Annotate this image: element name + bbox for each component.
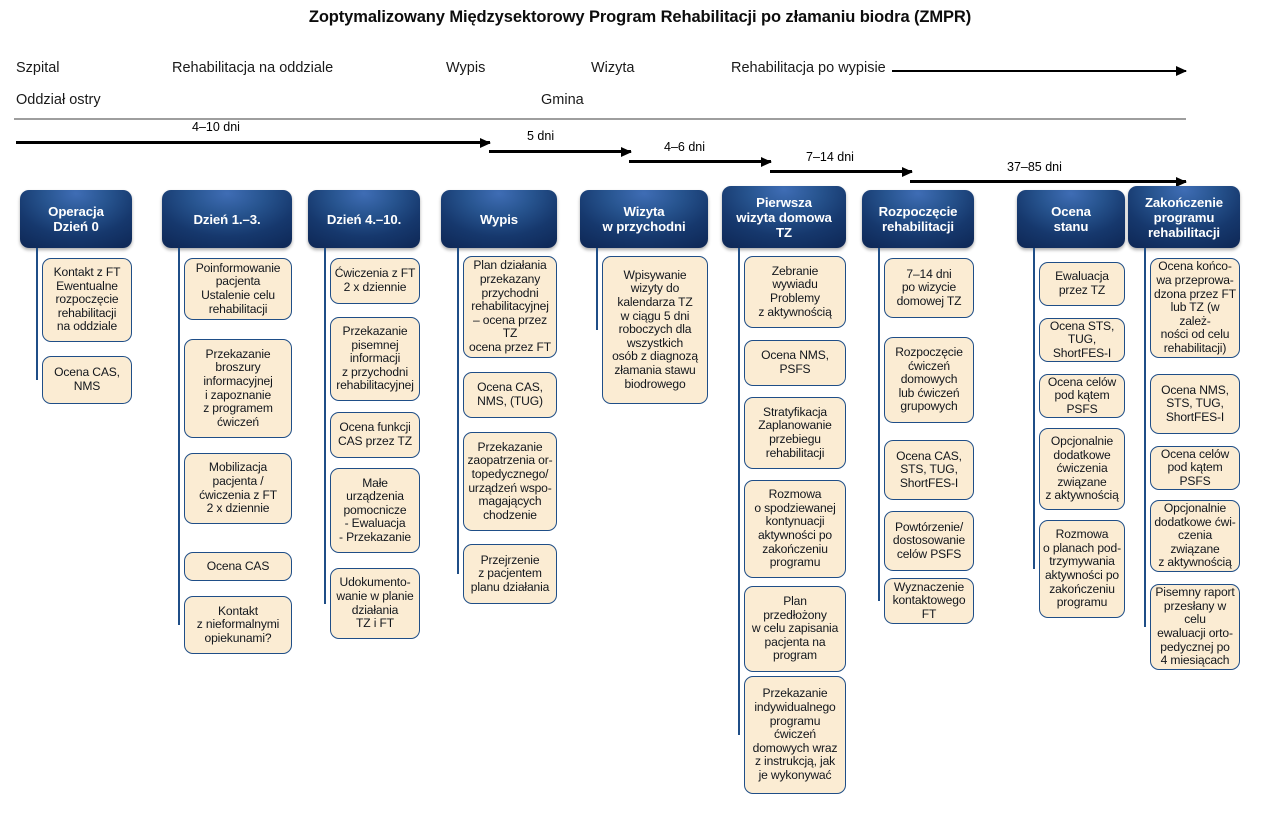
setting-label: Oddział ostry (16, 92, 101, 108)
task-card-line: kalendarza TZ (609, 296, 701, 310)
stage-header-line: Dzień 1.–3. (189, 212, 264, 227)
stage-header-line: stanu (1047, 219, 1095, 234)
task-card-line: pisemnej (333, 339, 417, 353)
task-card-line: Ocena celów (1151, 448, 1239, 462)
stage-header-line: rehabilitacji (1141, 225, 1227, 240)
task-card-line: wa przeprowa- (1151, 274, 1239, 288)
task-card-line: z pacjentem (468, 567, 552, 581)
task-card-line: ności od celu (1151, 328, 1239, 342)
task-card-line: celów PSFS (890, 548, 968, 562)
task-card-line: ćwiczenia (1042, 462, 1121, 476)
task-card-line: z aktywnością (755, 306, 834, 320)
duration-label: 4–10 dni (192, 120, 240, 134)
task-card-line: indywidualnego (750, 701, 841, 715)
task-card-line: NMS (51, 380, 123, 394)
stage-header-line: Dzień 0 (44, 219, 108, 234)
task-card[interactable]: Przejrzeniez pacjentemplanu działania (463, 544, 557, 604)
task-card-line: Ocena NMS, (758, 349, 832, 363)
connector-spine (1144, 248, 1146, 627)
task-card-line: z nieformalnymi (194, 618, 282, 632)
task-card[interactable]: Pisemny raportprzesłany w celuewaluacji … (1150, 584, 1240, 670)
connector-spine (324, 248, 326, 604)
stage-header-line: w przychodni (598, 219, 689, 234)
task-card[interactable]: Wpisywaniewizyty dokalendarza TZw ciągu … (602, 256, 708, 404)
task-card-line: lub ćwiczeń (892, 387, 966, 401)
task-card-line: TZ i FT (333, 617, 416, 631)
task-card-line: Ocena końco- (1151, 260, 1239, 274)
task-card[interactable]: Kontaktz nieformalnymiopiekunami? (184, 596, 292, 654)
stage-header-line: wizyta domowa (732, 210, 835, 225)
task-card-line: przekazany (464, 273, 556, 287)
task-card-line: STS, TUG, (1158, 397, 1232, 411)
task-card-line: zakończeniu (1040, 583, 1124, 597)
task-card-line: biodrowego (609, 378, 701, 392)
task-card-line: pacjenta na (749, 636, 841, 650)
task-card-line: 7–14 dni (894, 268, 965, 282)
duration-arrow-icon (16, 141, 490, 144)
task-card-line: - Ewaluacja (336, 517, 414, 531)
phase-label: Szpital (16, 60, 60, 76)
task-card-line: je wykonywać (750, 769, 841, 783)
task-card[interactable]: Ocena funkcjiCAS przez TZ (330, 412, 420, 458)
task-card-line: TUG, ShortFES-I (1040, 333, 1124, 360)
stage-header-dzien-1-3[interactable]: Dzień 1.–3. (162, 190, 292, 248)
task-card-line: w ciągu 5 dni (609, 310, 701, 324)
task-card-line: programu (750, 715, 841, 729)
task-card-line: CAS przez TZ (335, 435, 415, 449)
task-card[interactable]: Mobilizacjapacjenta /ćwiczenia z FT2 x d… (184, 453, 292, 524)
duration-arrow-icon (489, 150, 631, 153)
task-card-line: Ocena NMS, (1158, 384, 1232, 398)
duration-arrow-icon (629, 160, 771, 163)
task-card[interactable]: Ocena CAS (184, 552, 292, 581)
task-card[interactable]: PoinformowaniepacjentaUstalenie celureha… (184, 258, 292, 320)
stage-header-rozpoczecie-rehabilitacji[interactable]: Rozpoczęcierehabilitacji (862, 190, 974, 248)
task-card-line: przychodni (464, 287, 556, 301)
task-card-line: złamania stawu (609, 364, 701, 378)
stage-header-wypis[interactable]: Wypis (441, 190, 557, 248)
task-card-line: wszystkich (609, 337, 701, 351)
connector-spine (178, 248, 180, 625)
task-card-line: wanie w planie (333, 590, 416, 604)
task-card-line: ewaluacji orto- (1151, 627, 1239, 641)
task-card-line: programu (1040, 596, 1124, 610)
task-card-line: działania (333, 604, 416, 618)
task-card[interactable]: Opcjonalniedodatkowećwiczeniazwiązanez a… (1039, 428, 1125, 510)
task-card-line: broszury (200, 361, 276, 375)
stage-header-pierwsza-wizyta-domowa[interactable]: Pierwszawizyta domowaTZ (722, 186, 846, 248)
duration-label: 37–85 dni (1007, 160, 1062, 174)
task-card-line: Ocena CAS, (893, 450, 965, 464)
task-card-line: pacjenta (193, 275, 284, 289)
task-card-line: program (749, 649, 841, 663)
task-card-line: 2 x dziennie (196, 502, 280, 516)
task-card-line: kontaktowego (890, 594, 969, 608)
task-card-line: Ocena CAS, (51, 366, 123, 380)
task-card-line: roboczych dla (609, 323, 701, 337)
stage-header-wizyta-w-przychodni[interactable]: Wizytaw przychodni (580, 190, 708, 248)
task-card-line: Przekazanie (465, 441, 556, 455)
task-card-line: zaopatrzenia or- (465, 454, 556, 468)
task-card[interactable]: StratyfikacjaZaplanowanieprzebiegurehabi… (744, 397, 846, 469)
task-card-line: Ocena CAS (204, 560, 273, 574)
task-card-line: Udokumento- (333, 576, 416, 590)
task-card-line: wizyty do (609, 282, 701, 296)
task-card-line: pedycznej po (1151, 641, 1239, 655)
task-card-line: - Przekazanie (336, 531, 414, 545)
phase-label: Rehabilitacja na oddziale (172, 60, 333, 76)
connector-spine (1033, 248, 1035, 569)
task-card[interactable]: Przekazanieindywidualnegoprogramućwiczeń… (744, 676, 846, 794)
task-card[interactable]: Ocena celówpod kątem PSFS (1150, 446, 1240, 490)
connector-spine (36, 248, 38, 380)
task-card-line: ocena przez FT (464, 341, 556, 355)
task-card-line: rozpoczęcie (51, 293, 124, 307)
task-card-line: Mobilizacja (196, 461, 280, 475)
task-card-line: związane (1042, 476, 1121, 490)
task-card[interactable]: Ocena CAS,NMS, (TUG) (463, 372, 557, 418)
task-card-line: rehabilitacji (193, 303, 284, 317)
duration-arrow-icon (770, 170, 912, 173)
task-card-line: Pisemny raport (1151, 586, 1239, 600)
task-card-line: zakończeniu (751, 543, 838, 557)
connector-spine (457, 248, 459, 574)
task-card-line: 2 x dziennie (332, 281, 419, 295)
task-card[interactable]: Kontakt z FTEwentualnerozpoczęcierehabil… (42, 258, 132, 342)
task-card[interactable]: Rozmowao spodziewanejkontynuacjiaktywnoś… (744, 480, 846, 578)
stage-header-line: TZ (732, 225, 835, 240)
phase-label: Rehabilitacja po wypisie (731, 60, 886, 76)
stage-header-operacja[interactable]: OperacjaDzień 0 (20, 190, 132, 248)
task-card-line: domowych wraz (750, 742, 841, 756)
task-card-line: aktywności po (751, 529, 838, 543)
task-card-line: rehabilitacji (51, 307, 124, 321)
task-card-line: pod kątem PSFS (1040, 389, 1124, 416)
stage-header-line: Rozpoczęcie (875, 204, 962, 219)
task-card[interactable]: Przekazaniezaopatrzenia or-topedycznego/… (463, 432, 557, 531)
task-card-line: Powtórzenie/ (890, 521, 968, 535)
task-card-line: z programem (200, 402, 276, 416)
task-card-line: grupowych (892, 400, 966, 414)
task-card[interactable]: Udokumento-wanie w planiedziałaniaTZ i F… (330, 568, 420, 639)
task-card-line: Przejrzenie (468, 554, 552, 568)
task-card-line: Ćwiczenia z FT (332, 267, 419, 281)
task-card-line: – ocena przez TZ (464, 314, 556, 341)
task-card-line: chodzenie (465, 509, 556, 523)
task-card[interactable]: Plan działaniaprzekazanyprzychodnirehabi… (463, 256, 557, 358)
task-card-line: z aktywnością (1042, 489, 1121, 503)
task-card-line: na oddziale (51, 320, 124, 334)
post-discharge-arrow-icon (892, 70, 1186, 72)
task-card-line: ćwiczenia z FT (196, 489, 280, 503)
task-card-line: 4 miesiącach (1151, 654, 1239, 668)
task-card-line: Stratyfikacja (755, 406, 835, 420)
task-card-line: ShortFES-I (1158, 411, 1232, 425)
stage-header-line: rehabilitacji (875, 219, 962, 234)
task-card-line: Wyznaczenie (890, 581, 969, 595)
task-card[interactable]: Rozmowao planach pod-trzymywaniaaktywnoś… (1039, 520, 1125, 618)
connector-spine (878, 248, 880, 601)
stage-header-line: Dzień 4.–10. (323, 212, 405, 227)
task-card[interactable]: Ocena CAS,STS, TUG,ShortFES-I (884, 440, 974, 500)
task-card-line: opiekunami? (194, 632, 282, 646)
task-card-line: przesłany w celu (1151, 600, 1239, 627)
stage-header-zakonczenie-programu[interactable]: Zakończenieprogramurehabilitacji (1128, 186, 1240, 248)
task-card[interactable]: Powtórzenie/dostosowaniecelów PSFS (884, 511, 974, 571)
task-card-line: z aktywnością (1151, 556, 1239, 570)
task-card-line: pacjenta / (196, 475, 280, 489)
task-card-line: Rozmowa (1040, 528, 1124, 542)
task-card-line: rehabilitacyjnej (464, 300, 556, 314)
task-card-line: domowych (892, 373, 966, 387)
task-card-line: FT (890, 608, 969, 622)
stage-header-ocena-stanu[interactable]: Ocenastanu (1017, 190, 1125, 248)
stage-header-dzien-4-10[interactable]: Dzień 4.–10. (308, 190, 420, 248)
task-card-line: o spodziewanej (751, 502, 838, 516)
task-card[interactable]: Rozpoczęciećwiczeńdomowychlub ćwiczeńgru… (884, 337, 974, 423)
task-card-line: PSFS (758, 363, 832, 377)
task-card-line: Opcjonalnie (1151, 502, 1239, 516)
task-card[interactable]: Małeurządzeniapomocnicze- Ewaluacja- Prz… (330, 468, 420, 553)
task-card-line: Ocena funkcji (335, 421, 415, 435)
task-card-line: trzymywania (1040, 555, 1124, 569)
stage-header-line: Pierwsza (732, 195, 835, 210)
task-card-line: wywiadu (755, 278, 834, 292)
task-card-line: urządzeń wspo- (465, 482, 556, 496)
task-card[interactable]: Ocena NMS,PSFS (744, 340, 846, 386)
task-card[interactable]: Opcjonalniedodatkowe ćwi-czenia związane… (1150, 500, 1240, 572)
task-card-line: Przekazanie (333, 325, 417, 339)
task-card-line: rehabilitacji) (1151, 342, 1239, 356)
task-card-line: Kontakt z FT (51, 266, 124, 280)
task-card-line: topedycznego/ (465, 468, 556, 482)
duration-label: 4–6 dni (664, 140, 705, 154)
task-card-line: ćwiczeń (750, 728, 841, 742)
connector-spine (596, 248, 598, 330)
task-card-line: lub TZ (w zależ- (1151, 301, 1239, 328)
task-card-line: Opcjonalnie (1042, 435, 1121, 449)
stage-header-line: Ocena (1047, 204, 1095, 219)
task-card-line: i zapoznanie (200, 389, 276, 403)
task-card-line: Ewaluacja (1052, 270, 1112, 284)
task-card-line: rehabilitacji (755, 447, 835, 461)
task-card-line: Zaplanowanie (755, 419, 835, 433)
task-card-line: Ocena STS, (1040, 320, 1124, 334)
task-card-line: dzona przez FT (1151, 288, 1239, 302)
phase-label: Wizyta (591, 60, 635, 76)
task-card[interactable]: Ocena NMS,STS, TUG,ShortFES-I (1150, 374, 1240, 434)
task-card-line: przedłożony (749, 609, 841, 623)
task-card-line: informacyjnej (200, 375, 276, 389)
task-card[interactable]: Ocena końco-wa przeprowa-dzona przez FTl… (1150, 258, 1240, 358)
task-card-line: aktywności po (1040, 569, 1124, 583)
task-card-line: Plan działania (464, 259, 556, 273)
stage-header-line: Zakończenie (1141, 195, 1227, 210)
task-card-line: STS, TUG, (893, 463, 965, 477)
setting-label: Gmina (541, 92, 584, 108)
task-card[interactable]: Ocena CAS,NMS (42, 356, 132, 404)
task-card-line: dostosowanie (890, 534, 968, 548)
task-card[interactable]: Przekazaniepisemnejinformacjiz przychodn… (330, 317, 420, 401)
task-card-line: Ustalenie celu (193, 289, 284, 303)
task-card-line: magających (465, 495, 556, 509)
task-card-line: rehabilitacyjnej (333, 379, 417, 393)
page-title: Zoptymalizowany Międzysektorowy Program … (0, 8, 1280, 27)
task-card-line: Wpisywanie (609, 269, 701, 283)
task-card-line: ćwiczeń (200, 416, 276, 430)
task-card[interactable]: Ocena STS,TUG, ShortFES-I (1039, 318, 1125, 362)
task-card-line: przebiegu (755, 433, 835, 447)
task-card-line: czenia związane (1151, 529, 1239, 556)
task-card-line: ShortFES-I (893, 477, 965, 491)
task-card-line: Małe (336, 477, 414, 491)
task-card-line: domowej TZ (894, 295, 965, 309)
task-card-line: urządzenia (336, 490, 414, 504)
task-card-line: Ewentualne (51, 280, 124, 294)
task-card[interactable]: Planprzedłożonyw celu zapisaniapacjenta … (744, 586, 846, 672)
task-card[interactable]: Ćwiczenia z FT2 x dziennie (330, 258, 420, 304)
stage-header-line: Wizyta (598, 204, 689, 219)
task-card-line: Kontakt (194, 605, 282, 619)
task-card-line: Poinformowanie (193, 262, 284, 276)
stage-header-line: programu (1141, 210, 1227, 225)
task-card-line: Ocena CAS, (474, 381, 546, 395)
duration-label: 7–14 dni (806, 150, 854, 164)
task-card-line: z instrukcją, jak (750, 755, 841, 769)
task-card-line: w celu zapisania (749, 622, 841, 636)
task-card-line: Przekazanie (750, 687, 841, 701)
task-card-line: dodatkowe ćwi- (1151, 516, 1239, 530)
phase-label: Wypis (446, 60, 485, 76)
task-card-line: Zebranie (755, 265, 834, 279)
task-card[interactable]: Przekazaniebroszuryinformacyjneji zapozn… (184, 339, 292, 438)
task-card[interactable]: ZebraniewywiaduProblemyz aktywnością (744, 256, 846, 328)
task-card-line: informacji (333, 352, 417, 366)
duration-label: 5 dni (527, 129, 554, 143)
task-card-line: kontynuacji (751, 515, 838, 529)
task-card-line: Przekazanie (200, 348, 276, 362)
task-card[interactable]: Ocena celówpod kątem PSFS (1039, 374, 1125, 418)
task-card-line: Ocena celów (1040, 376, 1124, 390)
task-card-line: z przychodni (333, 366, 417, 380)
duration-arrow-icon (910, 180, 1186, 183)
task-card[interactable]: 7–14 dnipo wizyciedomowej TZ (884, 258, 974, 318)
task-card-line: o planach pod- (1040, 542, 1124, 556)
stage-header-line: Wypis (476, 212, 522, 227)
connector-spine (738, 248, 740, 735)
task-card[interactable]: Ewaluacjaprzez TZ (1039, 262, 1125, 306)
task-card-line: pod kątem PSFS (1151, 461, 1239, 488)
task-card-line: pomocnicze (336, 504, 414, 518)
task-card-line: Rozmowa (751, 488, 838, 502)
header-divider-rule (14, 118, 1186, 120)
task-card-line: Problemy (755, 292, 834, 306)
task-card-line: Rozpoczęcie (892, 346, 966, 360)
task-card-line: przez TZ (1052, 284, 1112, 298)
task-card-line: planu działania (468, 581, 552, 595)
task-card-line: ćwiczeń (892, 360, 966, 374)
task-card-line: po wizycie (894, 281, 965, 295)
task-card-line: Plan (749, 595, 841, 609)
task-card[interactable]: WyznaczeniekontaktowegoFT (884, 578, 974, 624)
task-card-line: NMS, (TUG) (474, 395, 546, 409)
task-card-line: dodatkowe (1042, 449, 1121, 463)
task-card-line: programu (751, 556, 838, 570)
stage-header-line: Operacja (44, 204, 108, 219)
task-card-line: osób z diagnozą (609, 350, 701, 364)
